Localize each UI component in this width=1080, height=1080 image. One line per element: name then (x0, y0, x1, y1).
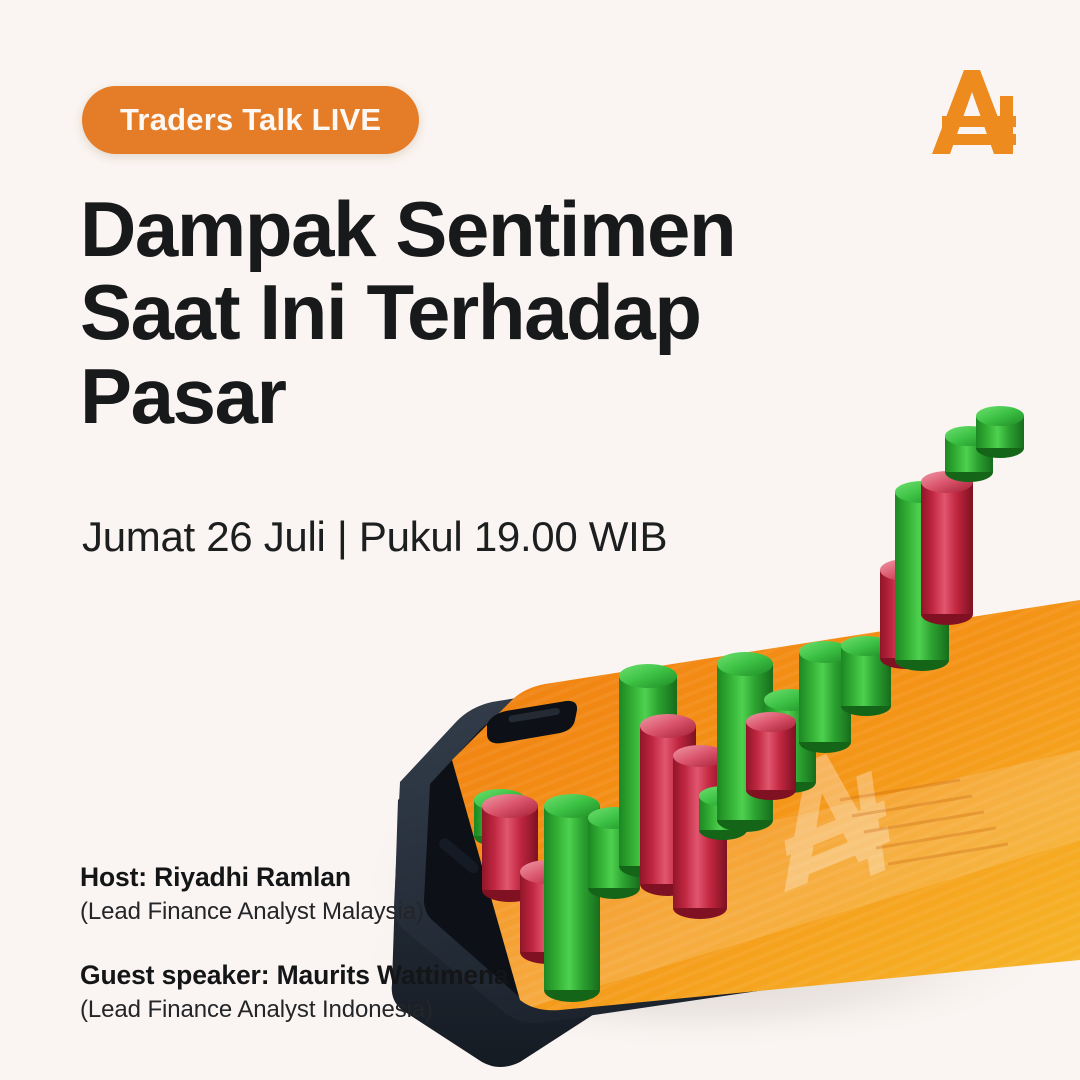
speaker-credits: Host: Riyadhi Ramlan (Lead Finance Analy… (80, 862, 509, 1024)
candle-19-bullish (976, 366, 1024, 534)
promo-poster: Traders Talk LIVE Dampak Sentimen Saat I… (0, 0, 1080, 1080)
guest-speaker-role: (Lead Finance Analyst Indonesia) (80, 996, 509, 1024)
host-name: Host: Riyadhi Ramlan (80, 862, 509, 893)
credit-guest-speaker: Guest speaker: Maurits Wattimena (Lead F… (80, 960, 509, 1024)
credit-host: Host: Riyadhi Ramlan (Lead Finance Analy… (80, 862, 509, 926)
host-role: (Lead Finance Analyst Malaysia) (80, 898, 509, 926)
guest-speaker-name: Guest speaker: Maurits Wattimena (80, 960, 509, 991)
